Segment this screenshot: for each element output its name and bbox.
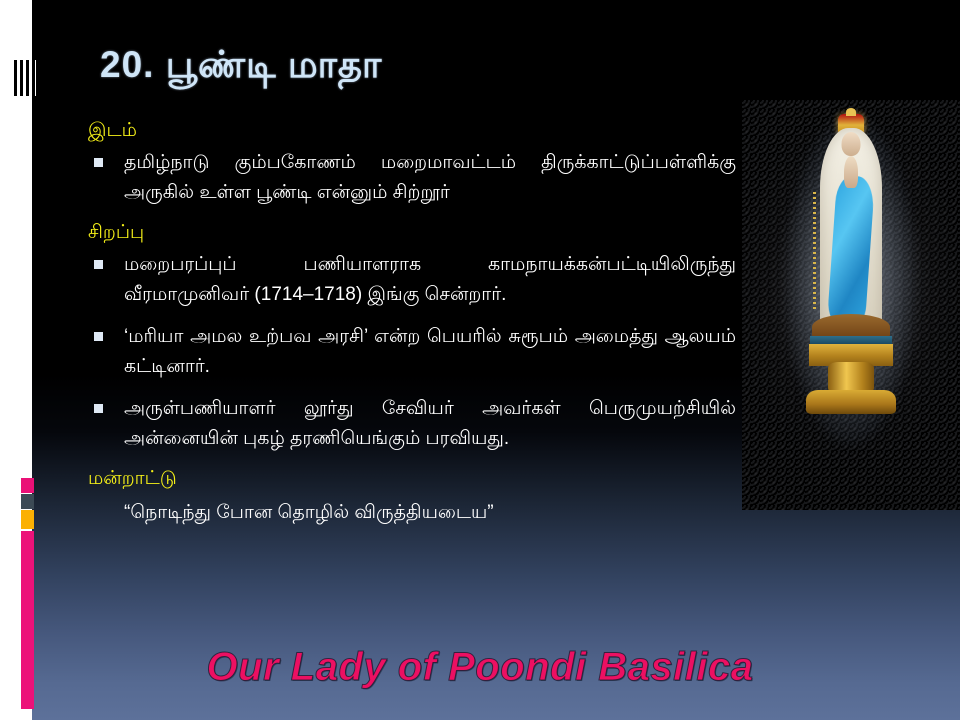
- slide-body: இடம் தமிழ்நாடு கும்பகோணம் மறைமாவட்டம் தி…: [88, 118, 736, 528]
- list-item: ‘மரியா அமல உற்பவ அரசி’ என்ற பெயரில் சுரூ…: [88, 322, 736, 382]
- accent-chip-slate: [21, 494, 34, 509]
- statue-figure: [791, 114, 911, 414]
- list-item: அருள்பணியாளர் லூர்து சேவியர் அவர்கள் பெர…: [88, 394, 736, 454]
- accent-bar-pink: [21, 531, 34, 709]
- rosary-icon: [813, 192, 816, 312]
- list-item: தமிழ்நாடு கும்பகோணம் மறைமாவட்டம் திருக்க…: [88, 148, 736, 208]
- slide-footer-title: Our Lady of Poondi Basilica: [0, 645, 960, 690]
- statue-praying-hands: [844, 156, 858, 188]
- our-lady-statue-image: [742, 100, 960, 510]
- accent-chip-pink-top: [21, 478, 34, 493]
- pedestal-base: [806, 390, 896, 414]
- barcode-solid-bar-icon: [36, 60, 44, 96]
- square-bullet-icon: [94, 332, 103, 341]
- square-bullet-icon: [94, 158, 103, 167]
- bullet-text: அருள்பணியாளர் லூர்து சேவியர் அவர்கள் பெர…: [124, 394, 736, 454]
- slide-title: 20. பூண்டி மாதா: [100, 44, 382, 91]
- section-heading-prayer: மன்றாட்டு: [88, 466, 736, 492]
- prayer-quote: “நொடிந்து போன தொழில் விருத்தியடைய”: [124, 498, 736, 528]
- list-item: மறைபரப்புப் பணியாளராக காமநாயக்கன்பட்டியி…: [88, 250, 736, 310]
- square-bullet-icon: [94, 260, 103, 269]
- accent-chip-orange: [21, 510, 34, 529]
- section-heading-specialty: சிறப்பு: [88, 220, 736, 246]
- bullet-text: ‘மரியா அமல உற்பவ அரசி’ என்ற பெயரில் சுரூ…: [124, 322, 736, 382]
- presentation-slide: 20. பூண்டி மாதா இடம் தமிழ்நாடு கும்பகோணம…: [0, 0, 960, 720]
- bullet-text: மறைபரப்புப் பணியாளராக காமநாயக்கன்பட்டியி…: [124, 250, 736, 310]
- section-heading-location: இடம்: [88, 118, 736, 144]
- bullet-text: தமிழ்நாடு கும்பகோணம் மறைமாவட்டம் திருக்க…: [124, 148, 736, 208]
- statue-head: [842, 132, 861, 156]
- square-bullet-icon: [94, 404, 103, 413]
